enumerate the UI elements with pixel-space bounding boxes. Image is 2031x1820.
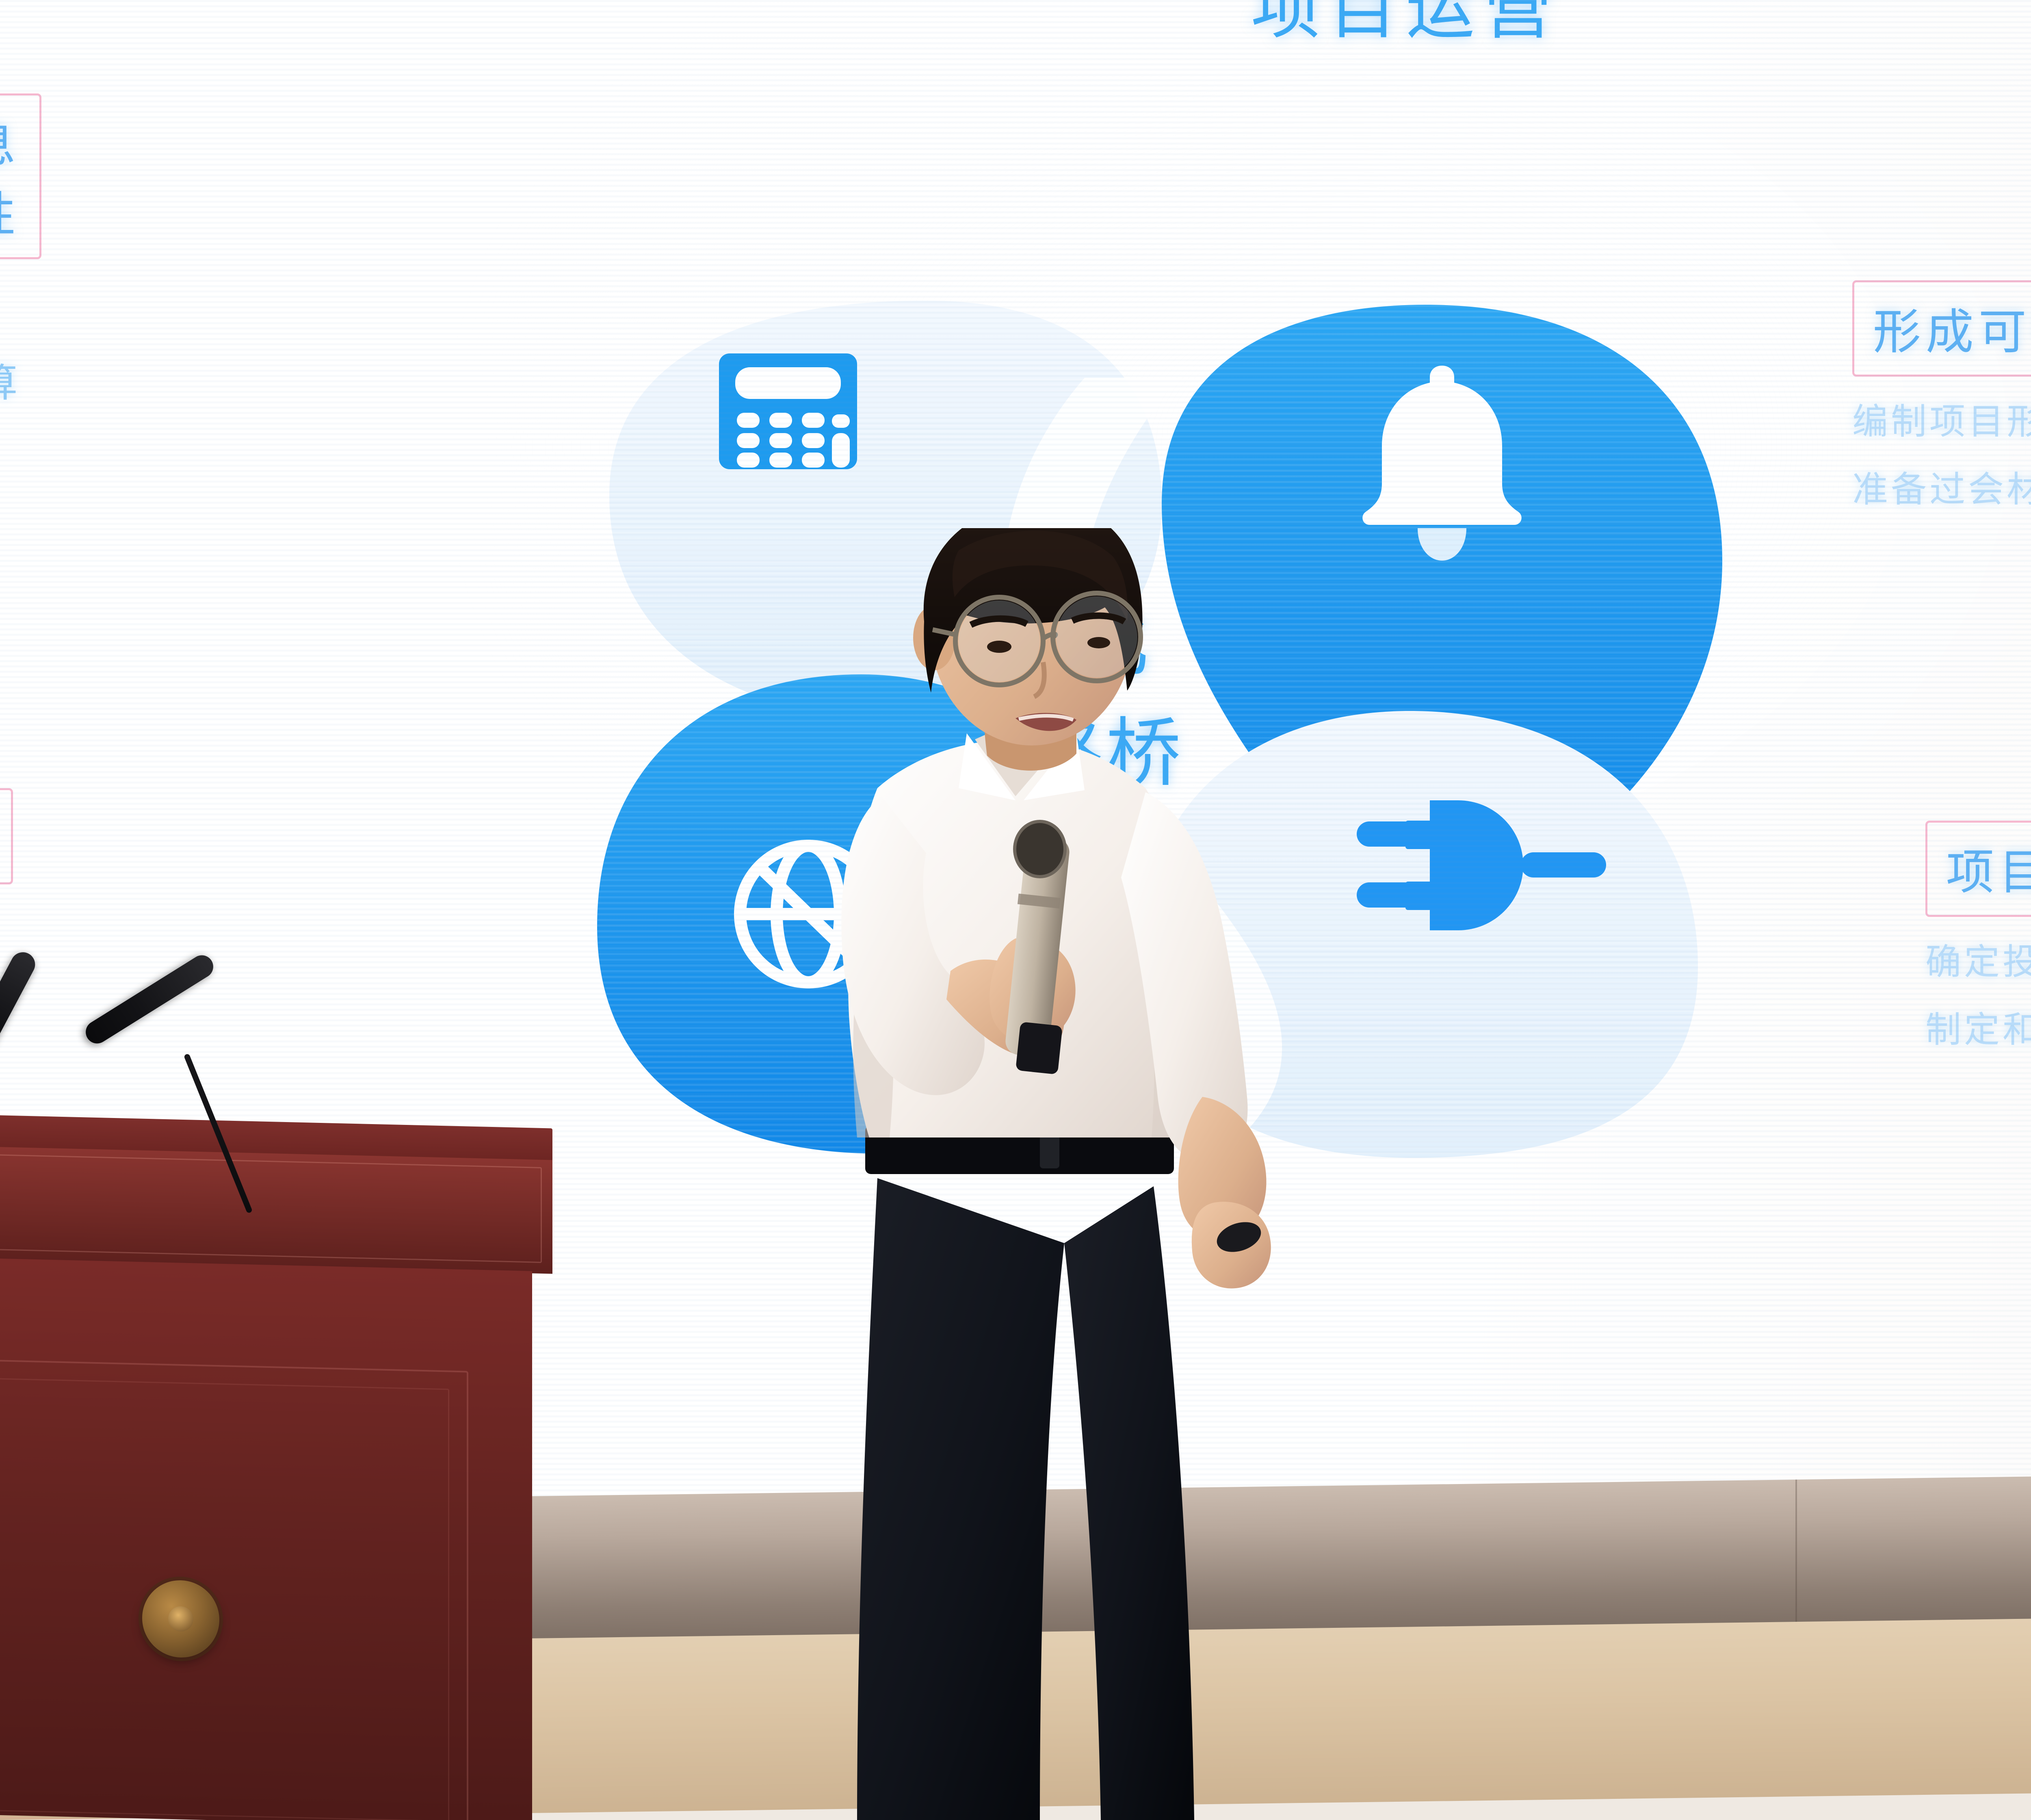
slide-block-right-bottom-line1: 确定投标策略 bbox=[1925, 933, 2031, 985]
slide-block-right-top-title: 形成可行性建议书 bbox=[1873, 293, 2031, 362]
slide-block-right-top-box: 形成可行性建议书 bbox=[1852, 280, 2031, 377]
calculator-icon bbox=[719, 353, 857, 469]
slide-block-left-top-title2: 行性 bbox=[0, 175, 21, 245]
slide-block-right-bottom: 项目投标 确定投标策略 制定和递交标书 bbox=[1925, 821, 2031, 1053]
podium bbox=[0, 1121, 585, 1820]
slide-block-right-bottom-line2: 制定和递交标书 bbox=[1925, 1001, 2031, 1053]
slide-block-right-bottom-title: 项目投标 bbox=[1946, 833, 2031, 903]
slide-block-left-top-line1: 对接 bbox=[0, 277, 41, 334]
slide-block-right-top: 形成可行性建议书 编制项目形批建议书 准备过会材料 bbox=[1852, 280, 2031, 512]
podium-rail-moulding bbox=[0, 1153, 542, 1263]
slide-block-left-bottom-box: 合同 bbox=[0, 788, 13, 884]
slide-block-right-top-line2: 准备过会材料 bbox=[1852, 461, 2031, 512]
speaker bbox=[756, 528, 1389, 1820]
slide-block-left-top: 信息 行性 对接 目测算 bbox=[0, 93, 41, 408]
slide-block-left-top-title1: 信息 bbox=[0, 106, 21, 175]
slide-block-left-top-line2: 目测算 bbox=[0, 351, 41, 408]
podium-panel-inner bbox=[0, 1378, 449, 1820]
slide-block-right-bottom-box: 项目投标 bbox=[1925, 821, 2031, 917]
screenshot-root: 项目运营 bbox=[0, 0, 2031, 1820]
slide-headline: 项目运营 bbox=[1251, 0, 1561, 52]
slide-block-right-top-line1: 编制项目形批建议书 bbox=[1852, 393, 2031, 444]
slide-block-left-top-box: 信息 行性 bbox=[0, 93, 41, 259]
slide-block-left-bottom-line1: 审批 bbox=[0, 902, 13, 959]
